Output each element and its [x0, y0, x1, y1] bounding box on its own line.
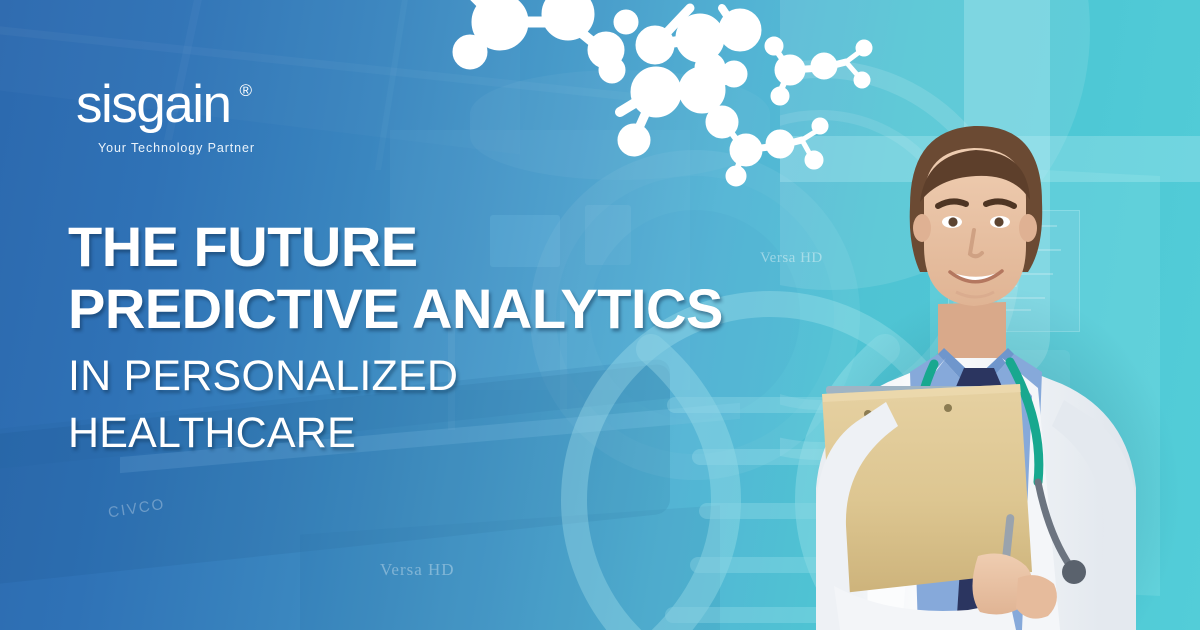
molecule-large-a: [453, 0, 624, 69]
headline-line-4: HEALTHCARE: [68, 410, 828, 456]
head: [910, 126, 1043, 306]
registered-trademark-icon: ®: [239, 82, 250, 99]
headline-line-1: THE FUTURE: [68, 218, 828, 276]
stethoscope-chestpiece: [1062, 560, 1086, 584]
brand-wordmark: sisgain ®: [76, 78, 230, 131]
brand-logo[interactable]: sisgain ® Your Technology Partner: [76, 78, 376, 155]
molecule-mid-c: [599, 57, 747, 156]
brand-name-text: sisgain: [76, 75, 230, 134]
headline-line-3: IN PERSONALIZED: [68, 353, 828, 399]
headline-line-2: PREDICTIVE ANALYTICS: [68, 280, 828, 338]
marketing-banner: Versa HD Versa HD CIVCO: [0, 0, 1200, 630]
couch-label-versa-hd: Versa HD: [380, 560, 455, 580]
headline-block: THE FUTURE PREDICTIVE ANALYTICS IN PERSO…: [68, 218, 828, 456]
molecule-small-d: [765, 37, 872, 105]
brand-tagline: Your Technology Partner: [76, 141, 376, 155]
doctor-photo: [770, 96, 1200, 630]
